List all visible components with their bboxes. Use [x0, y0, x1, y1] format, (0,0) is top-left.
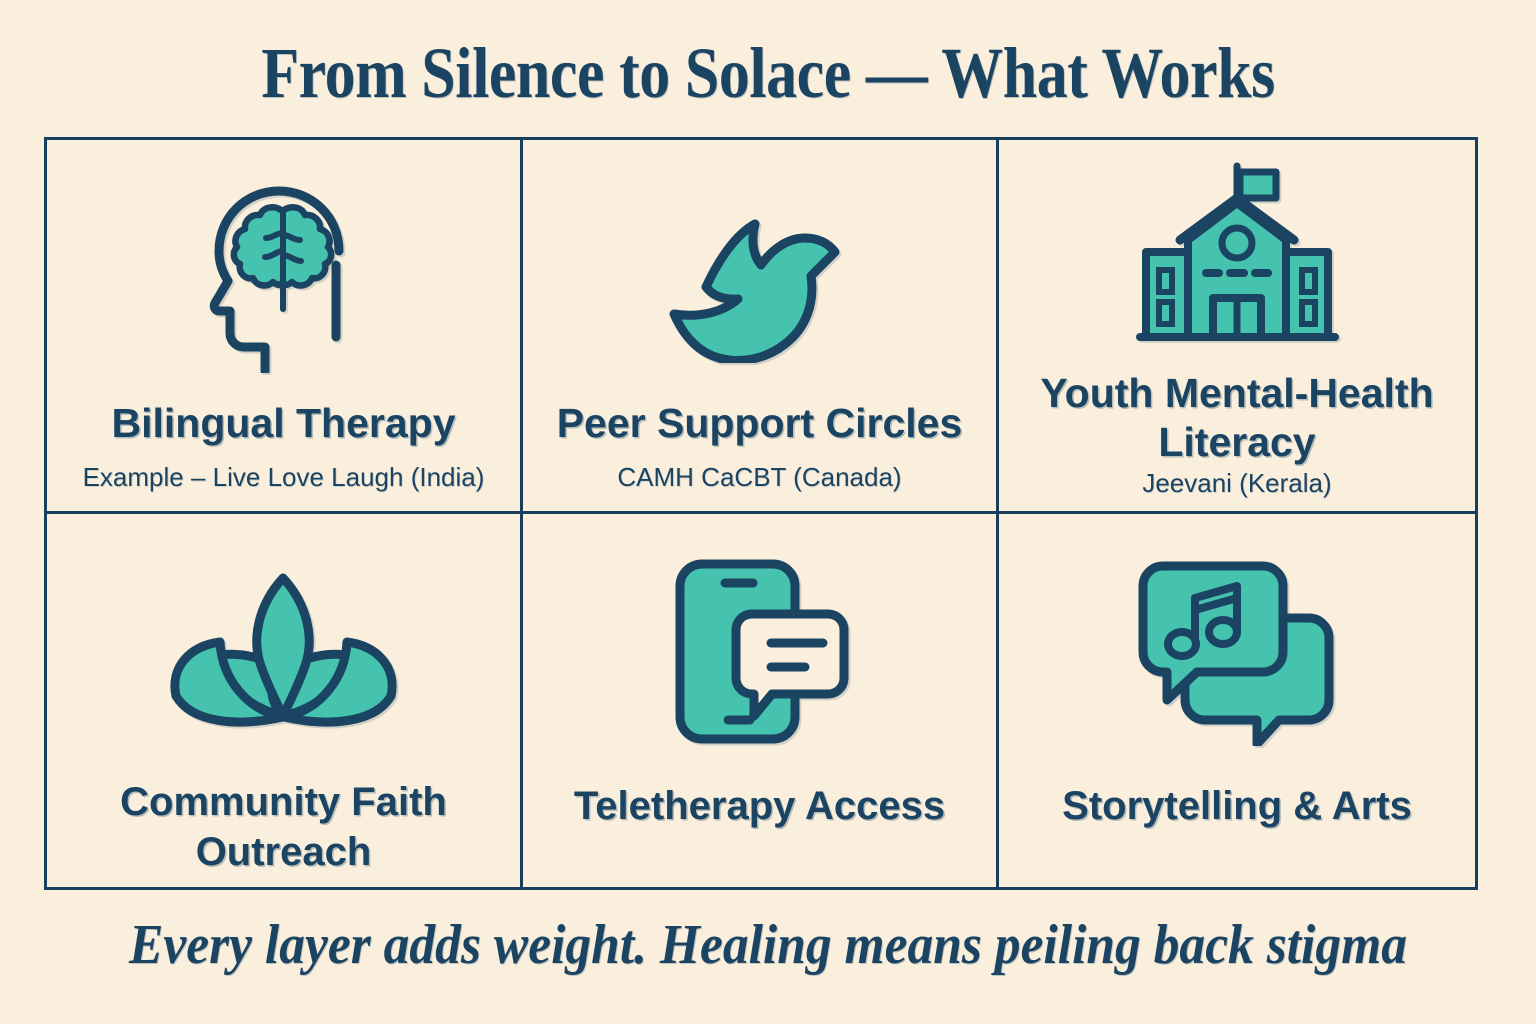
card-title: Peer Support Circles: [557, 399, 963, 448]
card-community-faith-outreach[interactable]: Community Faith Outreach: [47, 514, 523, 888]
card-title: Community Faith Outreach: [61, 777, 506, 877]
card-subtitle: Jeevani (Kerala): [1142, 467, 1331, 499]
card-grid: Bilingual Therapy Example – Live Love La…: [44, 137, 1478, 890]
lotus-flower-icon: [166, 544, 401, 756]
card-storytelling-and-arts[interactable]: Storytelling & Arts: [999, 514, 1475, 888]
card-teletherapy-access[interactable]: Teletherapy Access: [523, 514, 999, 888]
card-title: Storytelling & Arts: [1062, 781, 1412, 831]
speech-bubbles-music-icon: [1137, 544, 1337, 759]
card-bilingual-therapy[interactable]: Bilingual Therapy Example – Live Love La…: [47, 140, 523, 514]
card-peer-support-circles[interactable]: Peer Support Circles CAMH CaCBT (Canada): [523, 140, 999, 514]
card-title: Bilingual Therapy: [112, 399, 456, 448]
school-building-icon: [1130, 160, 1345, 355]
infographic-poster: From Silence to Solace — What Works Bili…: [0, 0, 1536, 1024]
phone-chat-icon: [670, 544, 850, 759]
head-with-brain-icon: [189, 160, 379, 385]
card-subtitle: CAMH CaCBT (Canada): [617, 461, 901, 493]
card-title: Youth Mental-Health Literacy: [1013, 369, 1461, 467]
card-title: Teletherapy Access: [574, 781, 945, 831]
card-youth-mental-health-literacy[interactable]: Youth Mental-Health Literacy Jeevani (Ke…: [999, 140, 1475, 514]
footer-caption: Every layer adds weight. Healing means p…: [61, 912, 1474, 978]
page-title: From Silence to Solace — What Works: [108, 32, 1429, 114]
dove-icon: [652, 160, 867, 385]
card-subtitle: Example – Live Love Laugh (India): [83, 461, 485, 493]
